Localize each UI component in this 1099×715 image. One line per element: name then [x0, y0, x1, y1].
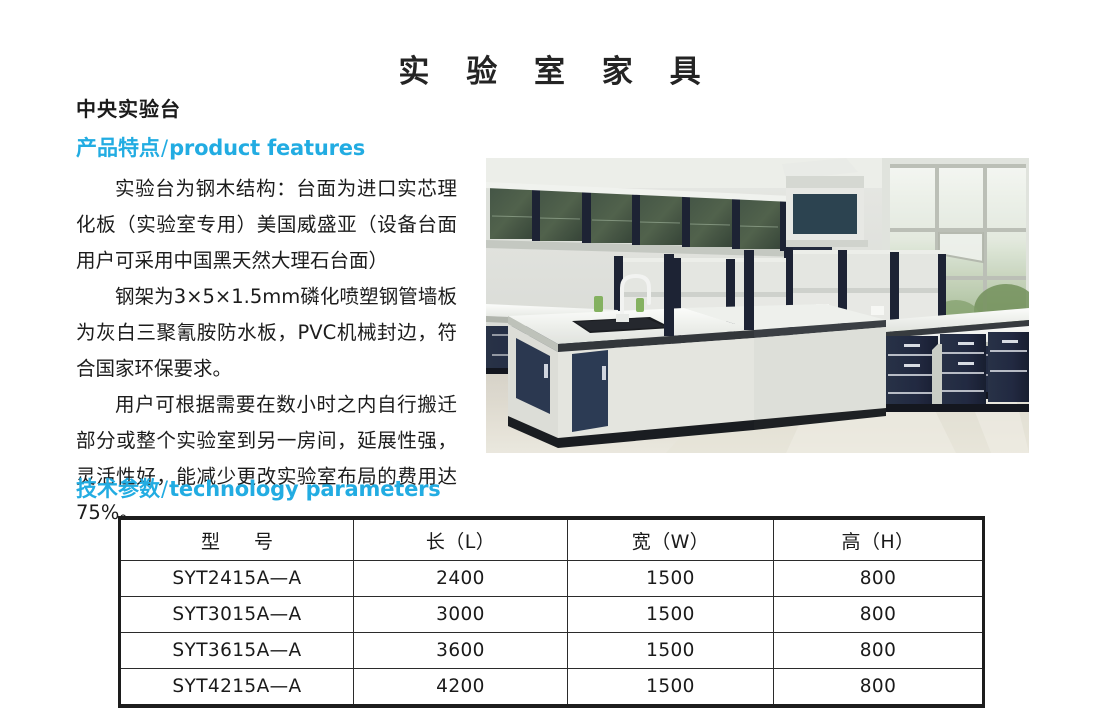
technology-parameters-heading: 技术参数/technology parameters — [76, 474, 441, 504]
product-features-heading-slash: / — [160, 136, 169, 160]
col-header-width: 宽（W） — [568, 518, 774, 561]
cell-height: 800 — [774, 597, 984, 633]
product-features-heading-en: product features — [169, 136, 365, 160]
feature-paragraph: 实验台为钢木结构：台面为进口实芯理化板（实验室专用）美国威盛亚（设备台面用户可采… — [76, 171, 457, 279]
cell-height: 800 — [774, 633, 984, 669]
product-features-heading: 产品特点/product features — [76, 133, 476, 163]
feature-paragraph: 用户可根据需要在数小时之内自行搬迁部分或整个实验室到另一房间，延展性强，灵活性好… — [76, 387, 457, 531]
table-row: SYT3015A—A 3000 1500 800 — [120, 597, 984, 633]
cell-model: SYT3015A—A — [120, 597, 354, 633]
specification-table: 型 号 长（L） 宽（W） 高（H） SYT2415A—A 2400 1500 … — [118, 516, 985, 708]
col-header-length: 长（L） — [354, 518, 568, 561]
feature-paragraph: 钢架为3×5×1.5mm磷化喷塑钢管墙板为灰白三聚氰胺防水板，PVC机械封边，符… — [76, 279, 457, 387]
cell-width: 1500 — [568, 669, 774, 707]
technology-parameters-heading-cn: 技术参数 — [76, 477, 160, 501]
cell-length: 4200 — [354, 669, 568, 707]
technology-parameters-heading-slash: / — [160, 477, 169, 501]
cell-model: SYT2415A—A — [120, 561, 354, 597]
technology-parameters-heading-en: technology parameters — [169, 477, 441, 501]
brochure-page: { "page": { "title": "实 验 室 家 具", "secti… — [0, 0, 1099, 715]
spec-table-container: 型 号 长（L） 宽（W） 高（H） SYT2415A—A 2400 1500 … — [118, 516, 982, 708]
cell-width: 1500 — [568, 597, 774, 633]
left-content-column: 中央实验台 产品特点/product features 实验台为钢木结构：台面为… — [76, 95, 476, 531]
cell-length: 3000 — [354, 597, 568, 633]
table-row: SYT3615A—A 3600 1500 800 — [120, 633, 984, 669]
cell-height: 800 — [774, 561, 984, 597]
cell-length: 2400 — [354, 561, 568, 597]
col-header-model: 型 号 — [120, 518, 354, 561]
product-features-heading-cn: 产品特点 — [76, 136, 160, 160]
cell-height: 800 — [774, 669, 984, 707]
cell-width: 1500 — [568, 561, 774, 597]
page-title: 实 验 室 家 具 — [0, 52, 1099, 92]
cell-width: 1500 — [568, 633, 774, 669]
table-row: SYT2415A—A 2400 1500 800 — [120, 561, 984, 597]
table-header-row: 型 号 长（L） 宽（W） 高（H） — [120, 518, 984, 561]
laboratory-photo — [486, 158, 1029, 453]
cell-length: 3600 — [354, 633, 568, 669]
laboratory-photo-illustration — [486, 158, 1029, 453]
cell-model: SYT4215A—A — [120, 669, 354, 707]
table-row: SYT4215A—A 4200 1500 800 — [120, 669, 984, 707]
section-title-central-bench: 中央实验台 — [76, 95, 476, 123]
cell-model: SYT3615A—A — [120, 633, 354, 669]
col-header-height: 高（H） — [774, 518, 984, 561]
